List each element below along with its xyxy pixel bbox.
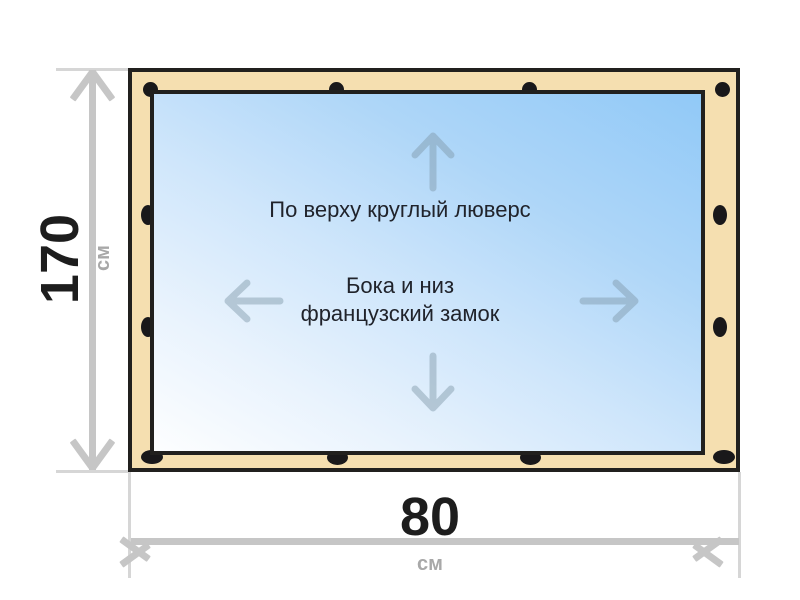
grommet-top-4 [715,82,730,97]
arrow-down-icon [410,352,456,414]
extension-line-right [738,472,741,578]
width-dimension-value: 80 [370,490,490,544]
callout-top-eyelet: По верху круглый люверс [0,196,800,224]
callout-sides-bottom-lock: Бока и низ французский замок [0,272,800,328]
width-dimension-unit: см [400,554,460,574]
grommet-bottom-4 [713,450,735,464]
diagram-canvas: 170 см 80 см [0,0,800,600]
extension-line-bottom [56,470,130,473]
arrow-up-icon [410,130,456,192]
